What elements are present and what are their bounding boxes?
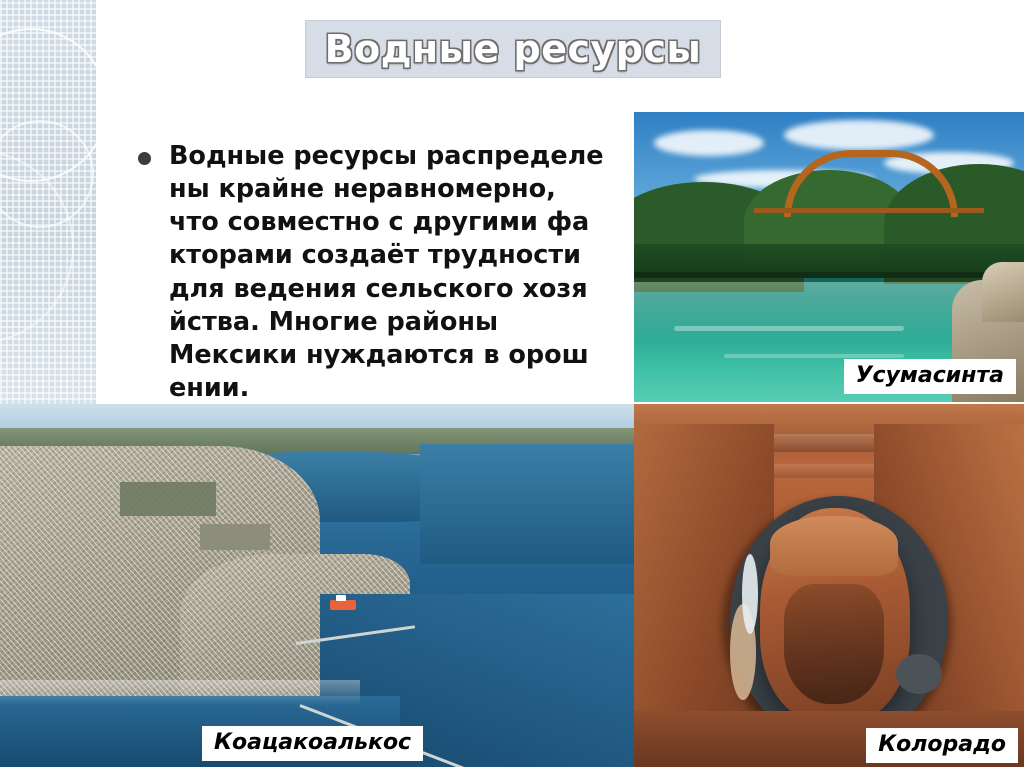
mesa-shadow [784,584,884,704]
photo-colorado: Колорадо [634,404,1024,767]
shore-shadow [634,272,1024,282]
photo-coatzacoalcos: Коацакоалькос [0,404,634,767]
slide-title-banner: Водные ресурсы [305,20,721,78]
bridge-deck [754,208,984,213]
photo-caption-coatzacoalcos: Коацакоалькос [202,726,423,761]
ship-icon [330,600,356,610]
water-ripple [724,354,904,358]
water-ripple [674,326,904,331]
photo-caption-usumacinta: Усумасинта [844,359,1016,394]
rock-bank [982,262,1024,322]
river-bend [896,654,942,694]
slide: Водные ресурсы Водные ресурсы распределе… [0,0,1024,767]
ship-superstructure [336,595,346,601]
port-block [200,524,270,550]
mesa-top [770,516,898,576]
water-highlight [742,554,758,634]
port-block [120,482,216,516]
decorative-left-band [0,0,96,412]
photo-usumacinta: Усумасинта [634,112,1024,402]
open-water [420,444,634,564]
photo-caption-colorado: Колорадо [866,728,1018,763]
cloud-icon [654,130,764,156]
page-title: Водные ресурсы [325,27,702,71]
body-text: Водные ресурсы распределе ны крайне нера… [169,140,604,405]
surf-line [0,680,360,706]
body-bullet-block: Водные ресурсы распределе ны крайне нера… [138,140,618,405]
bullet-dot-icon [138,152,151,165]
cloud-icon [784,120,934,150]
